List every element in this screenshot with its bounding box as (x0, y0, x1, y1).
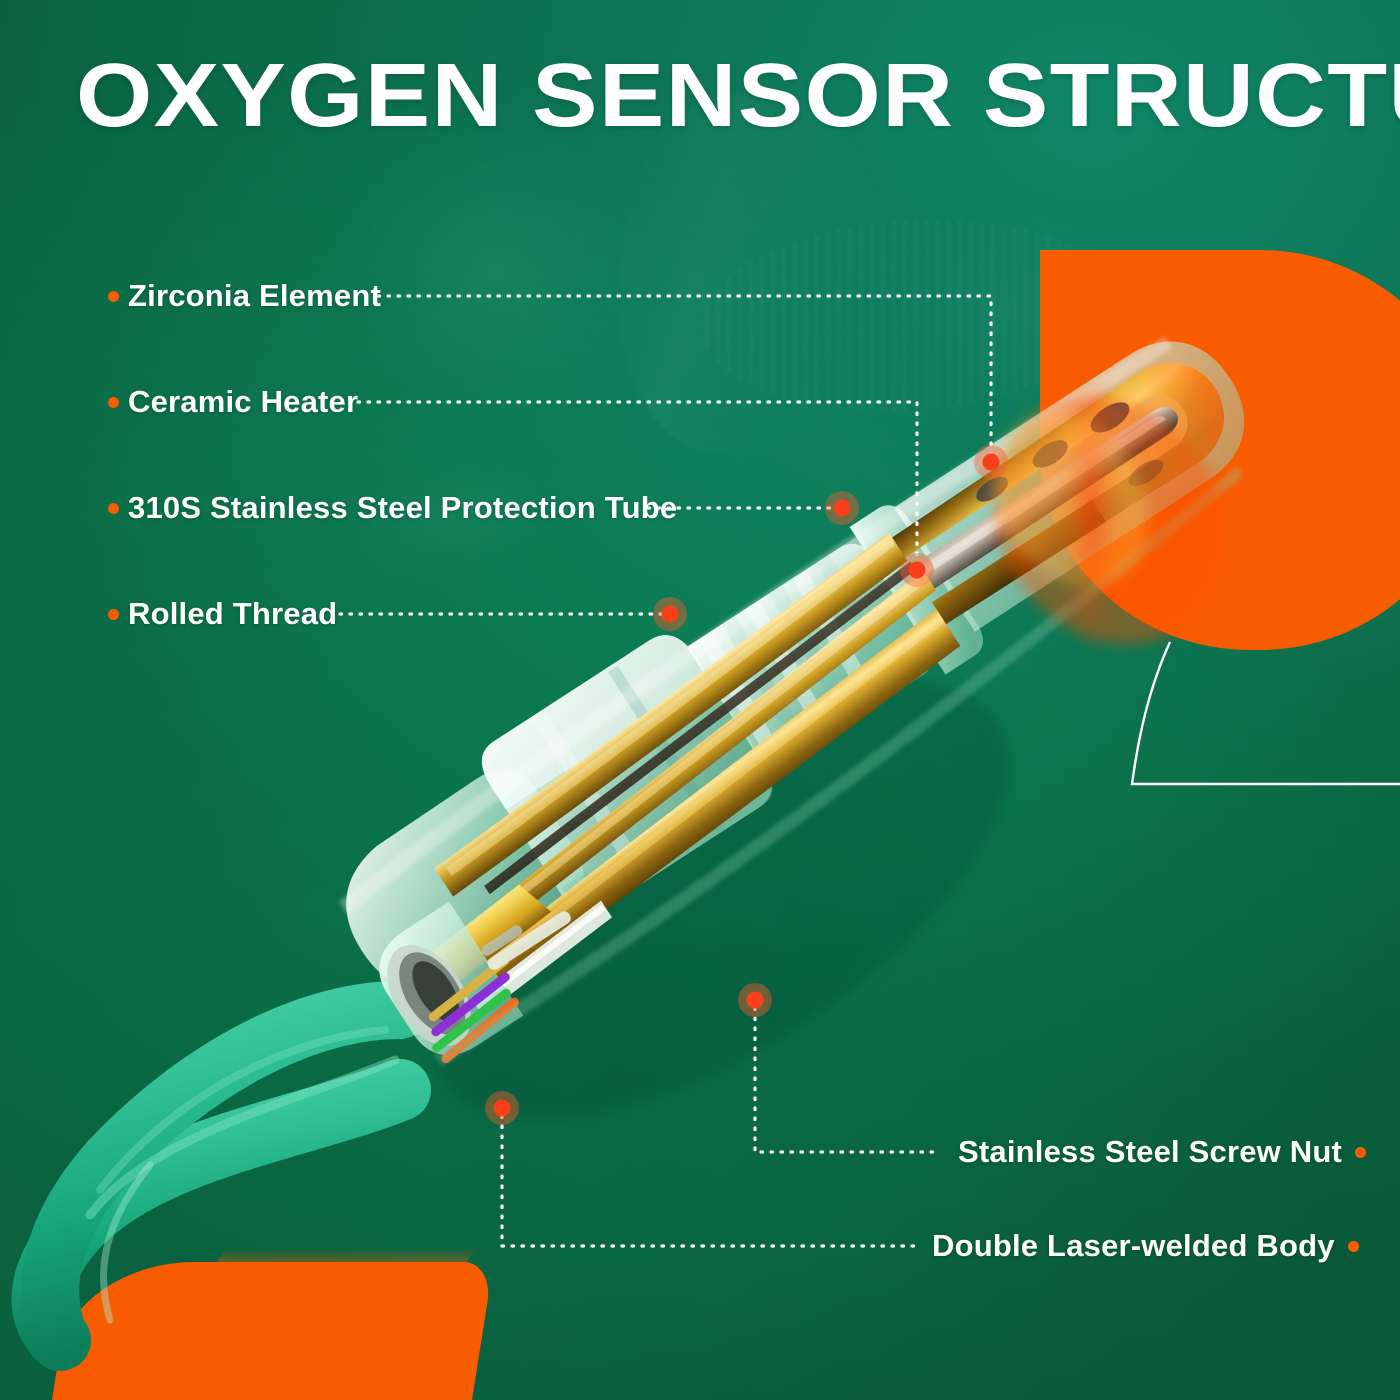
bullet-dot-icon (1348, 1241, 1359, 1252)
sensor-cable (43, 1010, 401, 1340)
tip-heat-haze (1060, 360, 1320, 660)
callout-rolled-thread[interactable]: Rolled Thread (108, 596, 337, 632)
bullet-dot-icon (108, 609, 119, 620)
bullet-dot-icon (108, 503, 119, 514)
callout-laser-welded-body[interactable]: Double Laser-welded Body (932, 1228, 1359, 1264)
callout-label: Ceramic Heater (128, 384, 358, 420)
callout-ceramic-heater[interactable]: Ceramic Heater (108, 384, 358, 420)
bullet-dot-icon (1355, 1147, 1366, 1158)
bullet-dot-icon (108, 291, 119, 302)
callout-label: 310S Stainless Steel Protection Tube (128, 490, 677, 526)
infographic-canvas: OXYGEN SENSOR STRUCTURE Zirconia Element… (0, 0, 1400, 1400)
callout-label: Double Laser-welded Body (932, 1228, 1335, 1264)
bullet-dot-icon (108, 397, 119, 408)
callout-label: Stainless Steel Screw Nut (958, 1134, 1342, 1170)
callout-protection-tube[interactable]: 310S Stainless Steel Protection Tube (108, 490, 677, 526)
page-title: OXYGEN SENSOR STRUCTURE (76, 48, 1400, 144)
decorative-corner-line (1100, 620, 1400, 820)
callout-label: Zirconia Element (128, 278, 381, 314)
callout-label: Rolled Thread (128, 596, 337, 632)
callout-zirconia-element[interactable]: Zirconia Element (108, 278, 381, 314)
callout-screw-nut[interactable]: Stainless Steel Screw Nut (958, 1134, 1366, 1170)
